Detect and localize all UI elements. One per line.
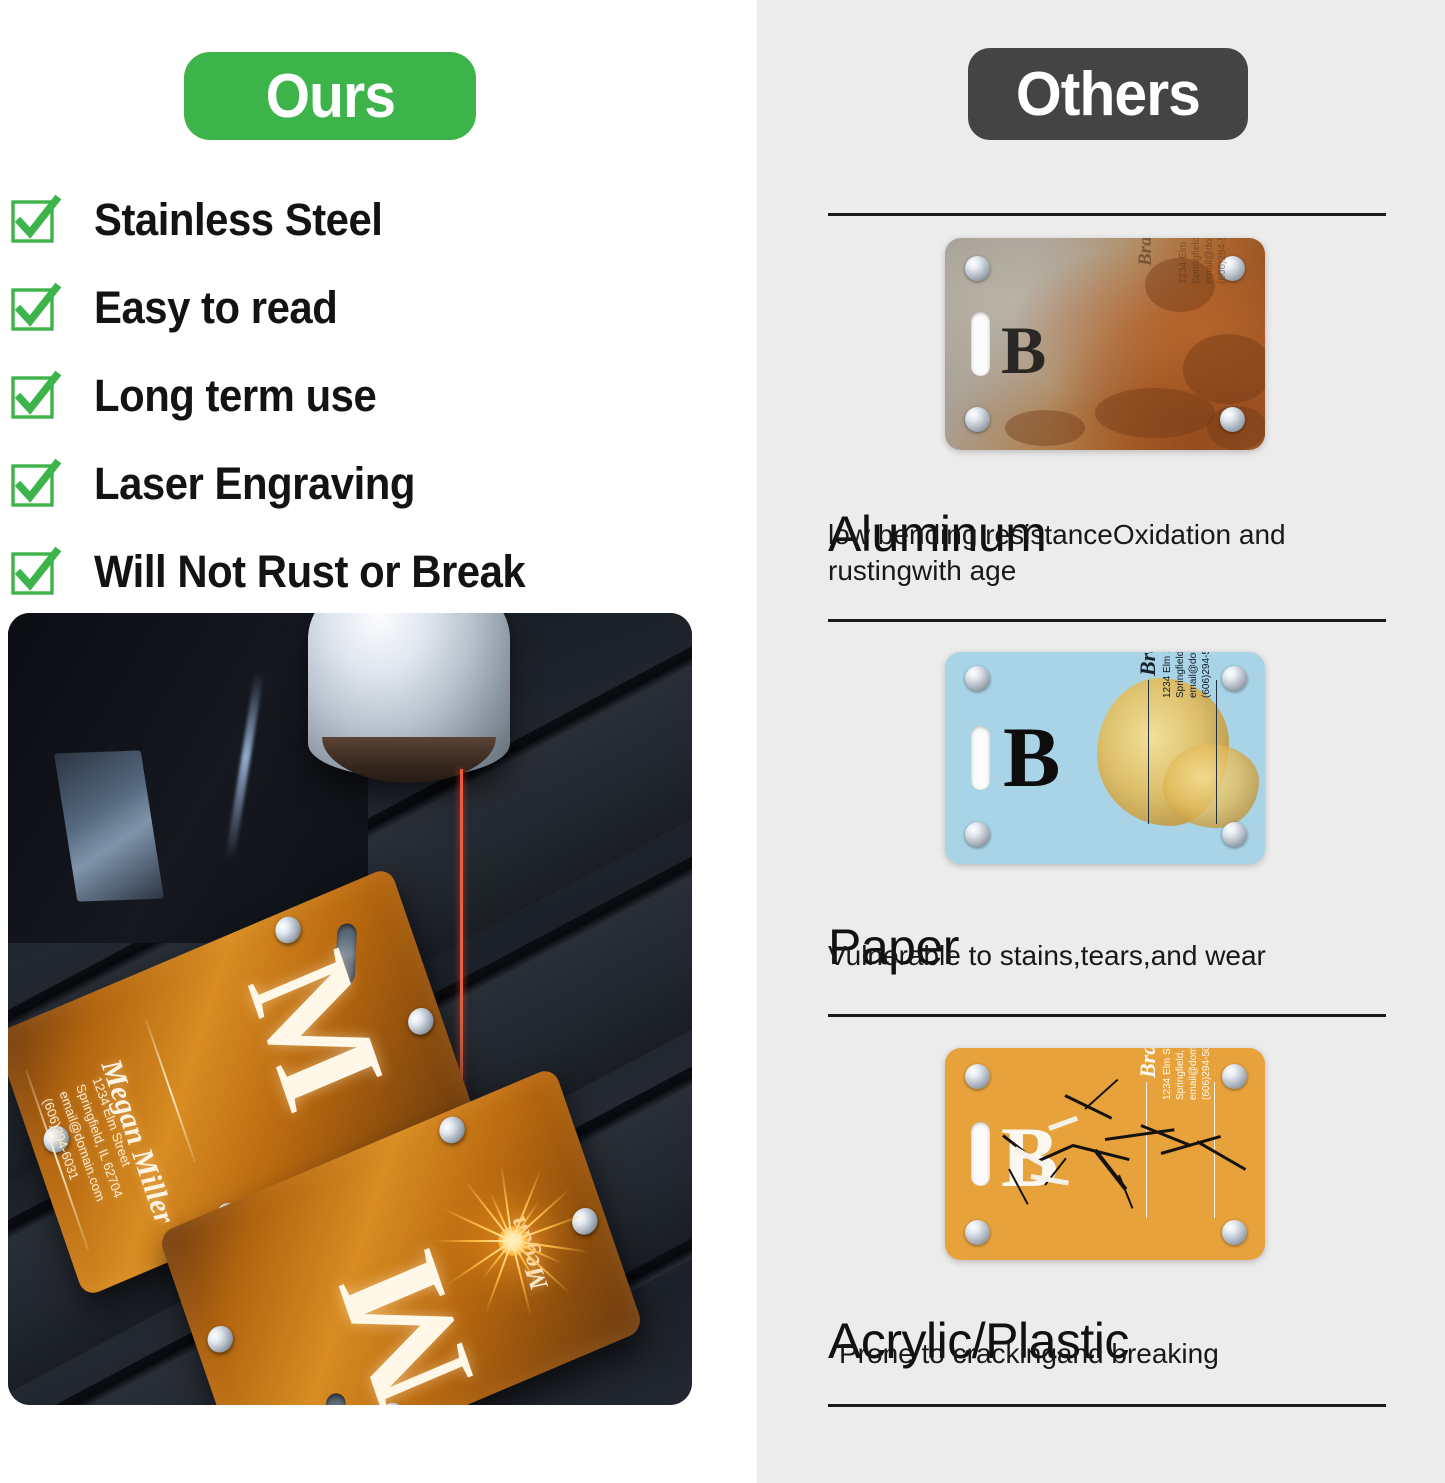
feature-label: Easy to read [94,282,337,334]
card-monogram: B [1003,714,1060,800]
card-screw [1222,1064,1247,1089]
ours-panel: Ours Stainless Steel [0,0,757,1483]
card-slot [971,1122,990,1186]
card-address-line-3: email@domain.com [1203,238,1217,284]
card-address-line-4: (606)294-5012 [1200,1048,1214,1100]
card-monogram: B [1001,316,1046,384]
card-address-line-2: Springfield, IL 62704 [1174,1048,1188,1100]
card-screw [1222,1220,1247,1245]
ours-badge: Ours [184,52,476,140]
aluminum-card-image: B Bradley Scott 1234 Elm Street Springfi… [945,238,1265,450]
paper-description: Vulnerable to stains,tears,and wear [828,938,1388,974]
tag-screw [436,1113,468,1148]
laser-engraving-photo: M Megan Miller 1234 Elm Street Springfie… [8,613,692,1405]
card-screw [1222,666,1247,691]
feature-item: Will Not Rust or Break [6,528,746,616]
card-screw [965,822,990,847]
card-address-line-4: (606)294-5012 [1216,238,1230,284]
card-screw [965,666,990,691]
card-address-line-1: 1234 Elm Street [1161,652,1175,698]
crack-line [1140,1124,1191,1147]
tag-screw [405,1004,437,1039]
others-badge: Others [968,48,1248,140]
card-address-line-2: Springfield, IL 62704 [1174,652,1188,698]
card-script-name: Bradley Scott [1135,1048,1161,1078]
ours-badge-label: Ours [265,61,394,132]
card-screw [1220,407,1245,432]
card-address-line-4: (606)294-5012 [1200,652,1214,698]
card-slot [971,726,990,790]
tag-screw [569,1204,601,1239]
checkbox-checked-icon [10,460,58,508]
section-divider [828,1404,1386,1407]
tag-script-name: Megan [502,1212,554,1295]
stain-blot [1163,744,1259,828]
feature-label: Will Not Rust or Break [94,546,525,598]
tag-monogram: M [224,935,408,1128]
card-script-name: Bradley Scott [1135,652,1161,676]
tag-screw [272,913,304,948]
card-address-line-3: email@domain.com [1187,652,1201,698]
aluminum-description: low bending resistanceOxidation and rust… [828,517,1388,589]
others-badge-label: Others [1016,59,1200,130]
checkbox-checked-icon [10,284,58,332]
card-screw [965,256,990,281]
card-script-name: Bradley Scott [1135,238,1157,266]
feature-item: Long term use [6,352,746,440]
acrylic-description: Prone to crackingand breaking [839,1336,1399,1372]
feature-label: Stainless Steel [94,194,382,246]
feature-item: Laser Engraving [6,440,746,528]
checkbox-checked-icon [10,196,58,244]
feature-item: Easy to read [6,264,746,352]
acrylic-card-image: B Bradley Scott 1234 Elm Street Springfi… [945,1048,1265,1260]
tag-monogram: M [313,1234,497,1405]
card-address-line-3: email@domain.com [1187,1048,1201,1100]
section-divider [828,213,1386,216]
card-rule [1146,1082,1147,1218]
feature-label: Laser Engraving [94,458,415,510]
feature-item: Stainless Steel [6,176,746,264]
others-panel: Others B Bradley Scott 1234 Elm Street S… [757,0,1445,1483]
section-divider [828,1014,1386,1017]
section-divider [828,619,1386,622]
comparison-infographic: Ours Stainless Steel [0,0,1445,1483]
card-screw [1222,822,1247,847]
card-screw [965,1064,990,1089]
paper-card-image: B Bradley Scott 1234 Elm Street Springfi… [945,652,1265,864]
card-rule [1148,680,1149,824]
ours-feature-list: Stainless Steel Easy to read [6,176,746,616]
card-screw [965,407,990,432]
laser-head-icon [308,613,510,777]
card-address-line-2: Springfield, IL 62704 [1190,238,1204,284]
checkbox-checked-icon [10,548,58,596]
card-address-line-1: 1234 Elm Street [1161,1048,1175,1100]
crack-line [1118,1175,1133,1209]
card-screw [965,1220,990,1245]
card-rule [1216,680,1217,824]
card-slot [971,312,990,376]
tag-screw [204,1322,236,1357]
checkbox-checked-icon [10,372,58,420]
crack-line [1196,1140,1246,1171]
feature-label: Long term use [94,370,376,422]
card-address-line-1: 1234 Elm Street [1177,238,1191,284]
crack-line [1084,1079,1118,1110]
